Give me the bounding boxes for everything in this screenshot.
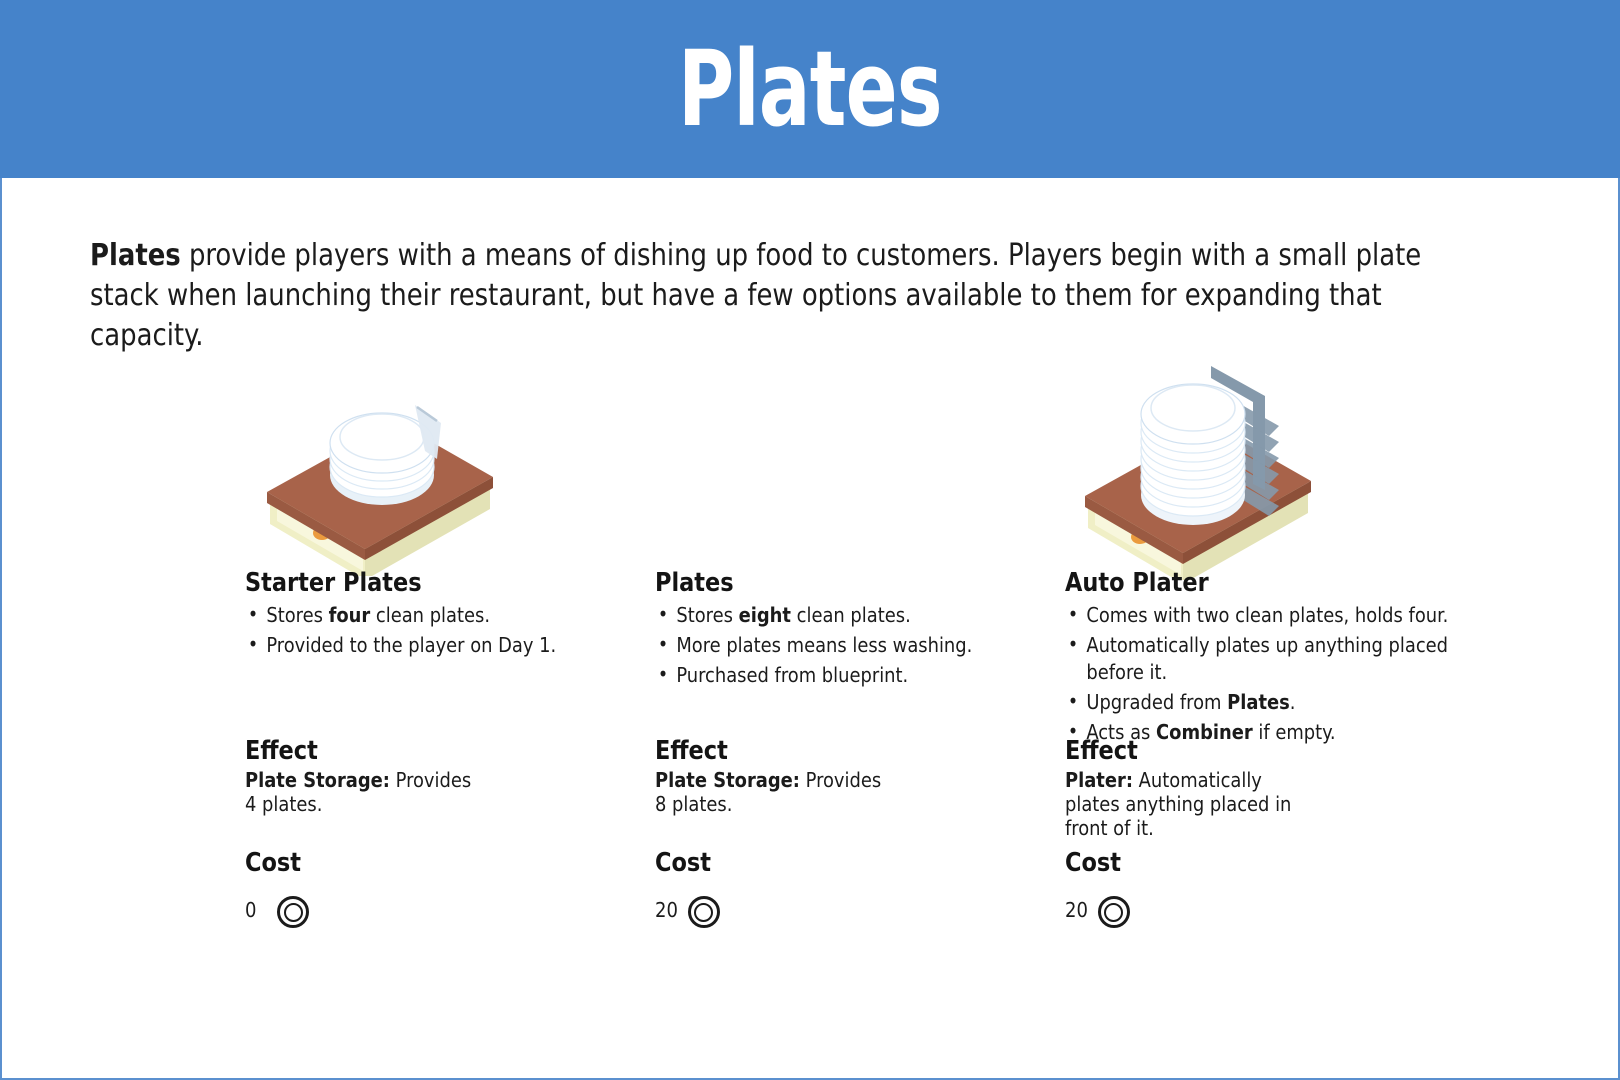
counter-with-small-plate-stack-icon [265,361,495,576]
effect-label: Plater: [1065,768,1133,792]
item-title: Plates [655,568,1049,598]
item-title: Auto Plater [1065,568,1459,598]
cost-amount: 20 [1065,900,1088,920]
cost-row: 0 [245,894,655,926]
effect-heading: Effect [655,736,1049,766]
item-columns: Starter Plates Stores four clean plates.… [2,353,1620,749]
list-item: Stores eight clean plates. [655,602,1053,629]
coin-inner-ring [284,903,303,922]
starter-plates-illustration [245,353,655,568]
infographic-page: Plates Plates provide players with a mea… [0,0,1620,1080]
item-title: Starter Plates [245,568,639,598]
cost-section: Cost 20 [1065,848,1475,926]
effect-description: Plate Storage: Provides 8 plates. [655,768,898,816]
auto-plater-illustration [1065,353,1475,568]
bullet-text: Comes with two clean plates, holds four. [1086,603,1448,627]
effect-description: Plater: Automatically plates anything pl… [1065,768,1308,840]
bullet-text: Provided to the player on Day 1. [266,633,556,657]
bullet-text: More plates means less washing. [676,633,972,657]
cost-section: Cost 0 [245,848,655,926]
list-item: Automatically plates up anything placed … [1065,632,1463,686]
coin-icon [688,896,720,928]
effect-description: Plate Storage: Provides 4 plates. [245,768,488,816]
bullet-text: Stores [676,603,738,627]
cost-row: 20 [655,894,1065,926]
coin-inner-ring [694,903,713,922]
bullet-text-tail: clean plates. [791,603,911,627]
page-header: Plates [0,0,1620,178]
effect-section: Effect Plater: Automatically plates anyt… [1065,736,1475,840]
item-card-starter-plates: Starter Plates Stores four clean plates.… [245,353,655,749]
content-panel: Plates provide players with a means of d… [0,178,1620,1080]
bullet-emphasis: four [329,603,371,627]
item-bullets: Comes with two clean plates, holds four.… [1065,602,1475,746]
effect-section: Effect Plate Storage: Provides 8 plates. [655,736,1065,816]
list-item: Purchased from blueprint. [655,662,1053,689]
bullet-text-tail: clean plates. [370,603,490,627]
list-item: Provided to the player on Day 1. [245,632,643,659]
list-item: More plates means less washing. [655,632,1053,659]
coin-icon [1098,896,1130,928]
bullet-emphasis: eight [739,603,791,627]
bullet-text: Upgraded from [1086,690,1227,714]
bullet-text-tail: . [1290,690,1296,714]
cost-heading: Cost [655,848,1049,878]
plates-illustration [655,353,1065,568]
effect-heading: Effect [245,736,639,766]
cost-amount: 0 [245,900,267,920]
coin-inner-ring [1104,903,1123,922]
intro-body: provide players with a means of dishing … [90,238,1421,353]
list-item: Comes with two clean plates, holds four. [1065,602,1463,629]
bullet-text: Purchased from blueprint. [676,663,908,687]
cost-section: Cost 20 [655,848,1065,926]
page-title: Plates [678,37,942,141]
list-item: Stores four clean plates. [245,602,643,629]
effect-label: Plate Storage: [245,768,390,792]
effect-label: Plate Storage: [655,768,800,792]
item-card-auto-plater: Auto Plater Comes with two clean plates,… [1065,353,1475,749]
cost-heading: Cost [245,848,639,878]
bullet-emphasis: Plates [1227,690,1290,714]
cost-heading: Cost [1065,848,1459,878]
cost-amount: 20 [655,900,678,920]
coin-icon [277,896,309,928]
item-card-plates: Plates Stores eight clean plates. More p… [655,353,1065,749]
effect-heading: Effect [1065,736,1459,766]
item-bullets: Stores eight clean plates. More plates m… [655,602,1065,689]
intro-lead: Plates [90,238,181,273]
list-item: Upgraded from Plates. [1065,689,1463,716]
bullet-text: Stores [266,603,328,627]
item-bullets: Stores four clean plates. Provided to th… [245,602,655,659]
cost-row: 20 [1065,894,1475,926]
bullet-text: Automatically plates up anything placed … [1086,633,1448,684]
effect-section: Effect Plate Storage: Provides 4 plates. [245,736,655,816]
intro-paragraph: Plates provide players with a means of d… [90,236,1434,356]
